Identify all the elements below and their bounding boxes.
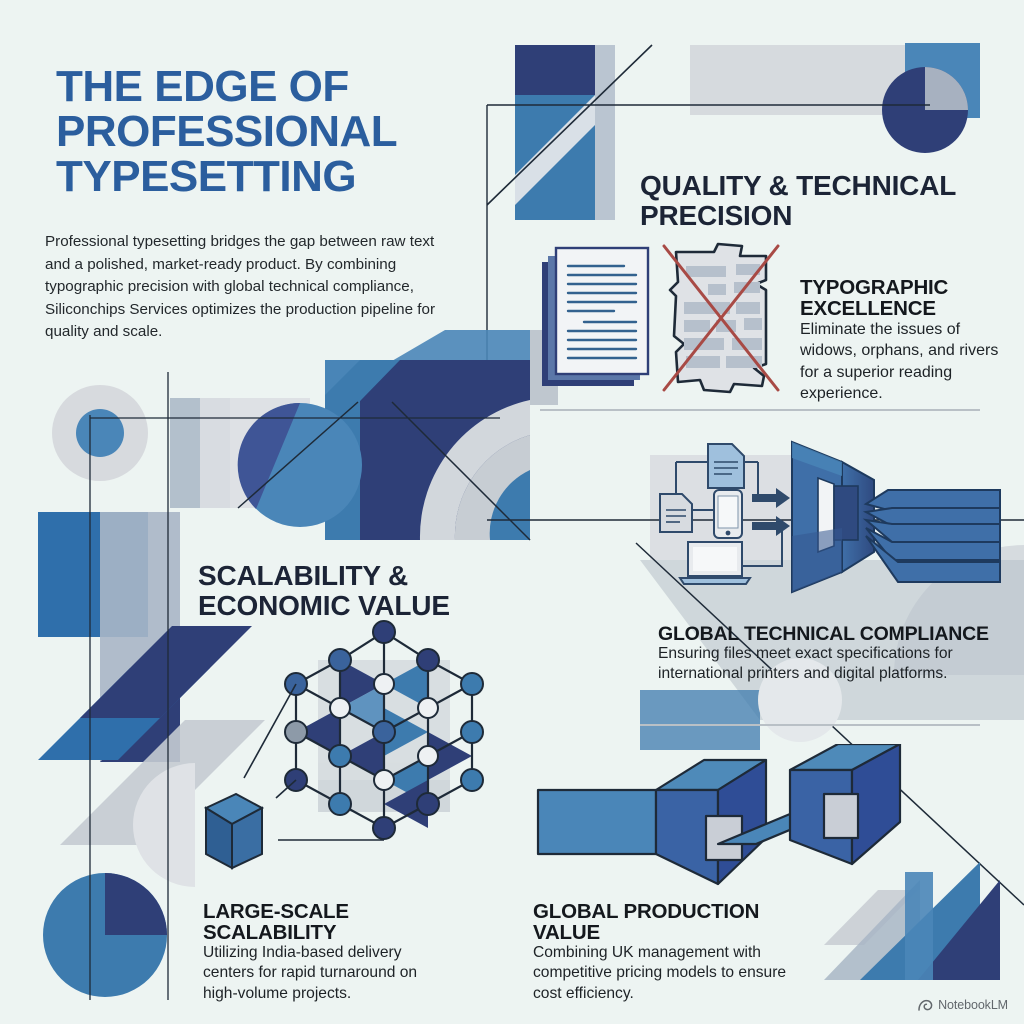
multi-device-to-output-funnel-icon <box>652 432 1008 608</box>
infographic-poster: THE EDGE OF PROFESSIONAL TYPESETTING Pro… <box>0 0 1024 1024</box>
linked-isometric-cubes-icon <box>528 744 920 892</box>
watermark: NotebookLM <box>918 998 1008 1012</box>
card-title-large-scale-scalability: LARGE-SCALE SCALABILITY <box>203 901 453 945</box>
section-heading-quality: QUALITY & TECHNICAL PRECISION <box>640 171 1010 231</box>
intro-paragraph: Professional typesetting bridges the gap… <box>45 231 435 344</box>
shape-navy-block-top2 <box>515 45 595 95</box>
card-body-typographic-excellence: Eliminate the issues of widows, orphans,… <box>800 319 1005 404</box>
shape-inner-blue-circle-left <box>76 409 124 457</box>
card-body-global-production-value: Combining UK management with competitive… <box>533 943 813 1005</box>
card-title-global-production-value: GLOBAL PRODUCTION VALUE <box>533 901 823 945</box>
watermark-label: NotebookLM <box>938 998 1008 1012</box>
hexagonal-lattice-network-icon <box>200 612 500 880</box>
card-body-global-technical-compliance: Ensuring files meet exact specifications… <box>658 644 988 685</box>
notebooklm-logo-icon <box>918 999 933 1012</box>
card-title-global-technical-compliance: GLOBAL TECHNICAL COMPLIANCE <box>658 624 1008 645</box>
clean-document-vs-ragged-document-icon <box>528 232 796 400</box>
card-title-typographic-excellence: TYPOGRAPHIC EXCELLENCE <box>800 277 1005 321</box>
card-body-large-scale-scalability: Utilizing India-based delivery centers f… <box>203 943 453 1005</box>
shape-blue-rect-right-low <box>640 690 760 750</box>
section-heading-scalability: SCALABILITY & ECONOMIC VALUE <box>198 561 528 621</box>
page-title: THE EDGE OF PROFESSIONAL TYPESETTING <box>56 65 476 200</box>
